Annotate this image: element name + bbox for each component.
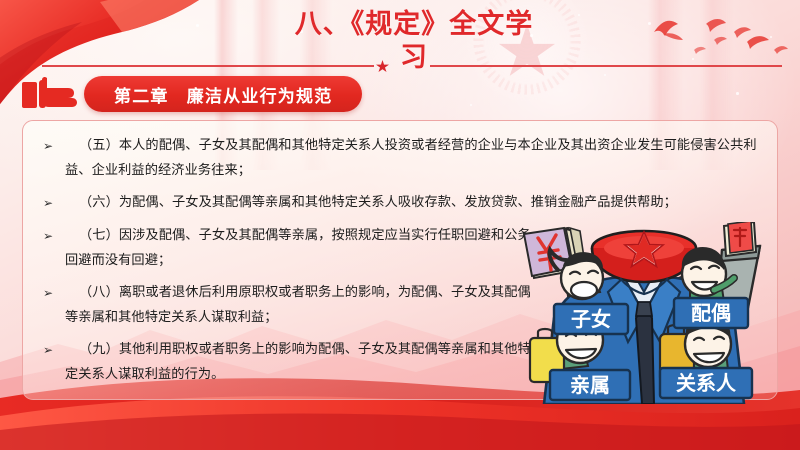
official-family-cartoon-illustration: 子女 配偶 亲属 关系人 xyxy=(508,222,780,404)
pocket-label-related-persons-text: 关系人 xyxy=(676,371,737,395)
list-item: ➢ （六）为配偶、子女及其配偶等亲属和其他特定关系人吸收存款、发放贷款、推销金融… xyxy=(39,190,765,216)
clause-text: （八）离职或者退休后利用原职权或者职务上的影响，为配偶、子女及其配偶等亲属和其他… xyxy=(65,280,537,330)
chapter-label: 第二章 廉洁从业行为规范 xyxy=(114,82,332,107)
page-title: 八、《规定》全文学习 xyxy=(284,8,544,74)
bullet-arrow-icon: ➢ xyxy=(39,133,65,159)
pocket-label-related-persons: 关系人 xyxy=(660,368,752,398)
presentation-slide: 八、《规定》全文学习 第二章 廉洁从业行为规范 ➢ （五）本人的配偶、子女及其配… xyxy=(0,0,800,450)
bullet-arrow-icon: ➢ xyxy=(39,223,65,249)
clause-text: （六）为配偶、子女及其配偶等亲属和其他特定关系人吸收存款、发放贷款、推销金融产品… xyxy=(65,190,765,215)
list-item: ➢ （五）本人的配偶、子女及其配偶和其他特定关系人投资或者经营的企业与本企业及其… xyxy=(39,133,765,183)
pocket-label-children-text: 子女 xyxy=(571,307,611,331)
clause-text: （五）本人的配偶、子女及其配偶和其他特定关系人投资或者经营的企业与本企业及其出资… xyxy=(65,133,765,183)
bullet-arrow-icon: ➢ xyxy=(39,337,65,363)
slide-title-wrapper: 八、《规定》全文学习 xyxy=(284,8,544,74)
clause-text: （九）其他利用职权或者职务上的影响为配偶、子女及其配偶等亲属和其他特定关系人谋取… xyxy=(65,337,537,387)
pocket-label-relatives: 亲属 xyxy=(550,370,630,400)
chapter-banner: 第二章 廉洁从业行为规范 xyxy=(84,76,362,112)
pocket-label-spouse-text: 配偶 xyxy=(691,301,731,325)
pocket-label-relatives-text: 亲属 xyxy=(570,373,610,397)
pocket-label-spouse: 配偶 xyxy=(674,298,748,328)
bullet-arrow-icon: ➢ xyxy=(39,190,65,216)
pocket-label-children: 子女 xyxy=(554,304,628,334)
bullet-arrow-icon: ➢ xyxy=(39,280,65,306)
clause-text: （七）因涉及配偶、子女及其配偶等亲属，按照规定应当实行任职回避和公务回避而没有回… xyxy=(65,223,537,273)
